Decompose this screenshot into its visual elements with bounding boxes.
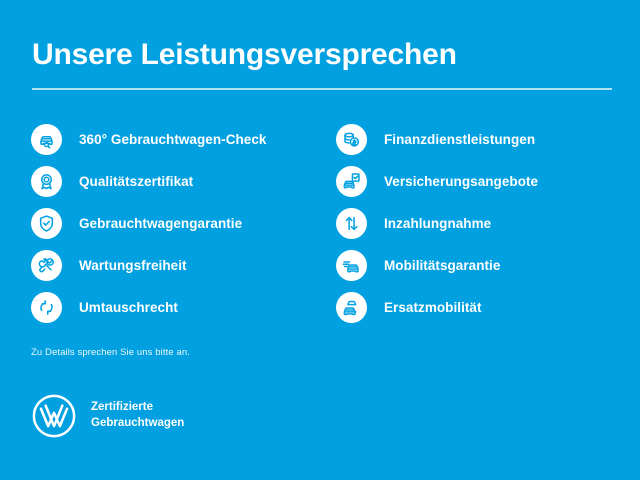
feature-label: Mobilitätsgarantie — [384, 258, 500, 273]
wrench-check-icon — [31, 250, 62, 281]
feature-label: Finanzdienstleistungen — [384, 132, 535, 147]
up-down-arrows-icon — [336, 208, 367, 239]
brand-text: Zertifizierte Gebrauchtwagen — [91, 400, 184, 431]
feature-label: Inzahlungnahme — [384, 216, 491, 231]
feature-column-right: Finanzdienstleistungen Versicherungsange… — [336, 124, 626, 323]
feature-item-mobility-guarantee: Mobilitätsgarantie — [336, 250, 626, 281]
feature-item-quality-certificate: Qualitätszertifikat — [31, 166, 321, 197]
two-cars-icon — [336, 292, 367, 323]
car-inspection-icon — [31, 124, 62, 155]
car-speed-icon — [336, 250, 367, 281]
brand-line-2: Gebrauchtwagen — [91, 416, 184, 432]
feature-label: Gebrauchtwagengarantie — [79, 216, 242, 231]
car-document-icon — [336, 166, 367, 197]
footnote-text: Zu Details sprechen Sie uns bitte an. — [31, 347, 190, 358]
shield-check-icon — [31, 208, 62, 239]
award-rosette-icon — [31, 166, 62, 197]
feature-item-financial-services: Finanzdienstleistungen — [336, 124, 626, 155]
slide-root: Unsere Leistungsversprechen 360° Gebrauc… — [0, 0, 640, 480]
vw-logo-icon — [31, 393, 77, 439]
feature-label: Versicherungsangebote — [384, 174, 538, 189]
feature-label: Umtauschrecht — [79, 300, 178, 315]
feature-label: Qualitätszertifikat — [79, 174, 193, 189]
feature-item-replacement-mobility: Ersatzmobilität — [336, 292, 626, 323]
feature-item-trade-in: Inzahlungnahme — [336, 208, 626, 239]
feature-item-exchange-right: Umtauschrecht — [31, 292, 321, 323]
feature-label: 360° Gebrauchtwagen-Check — [79, 132, 266, 147]
coins-stack-icon — [336, 124, 367, 155]
feature-item-360-check: 360° Gebrauchtwagen-Check — [31, 124, 321, 155]
brand-lockup: Zertifizierte Gebrauchtwagen — [31, 393, 184, 439]
feature-item-maintenance-free: Wartungsfreiheit — [31, 250, 321, 281]
feature-label: Ersatzmobilität — [384, 300, 482, 315]
page-title: Unsere Leistungsversprechen — [32, 38, 457, 71]
feature-item-used-car-warranty: Gebrauchtwagengarantie — [31, 208, 321, 239]
brand-line-1: Zertifizierte — [91, 400, 184, 416]
feature-label: Wartungsfreiheit — [79, 258, 187, 273]
feature-column-left: 360° Gebrauchtwagen-Check Qualitätszerti… — [31, 124, 321, 323]
feature-item-insurance-offers: Versicherungsangebote — [336, 166, 626, 197]
title-divider — [32, 88, 612, 90]
exchange-arrows-icon — [31, 292, 62, 323]
